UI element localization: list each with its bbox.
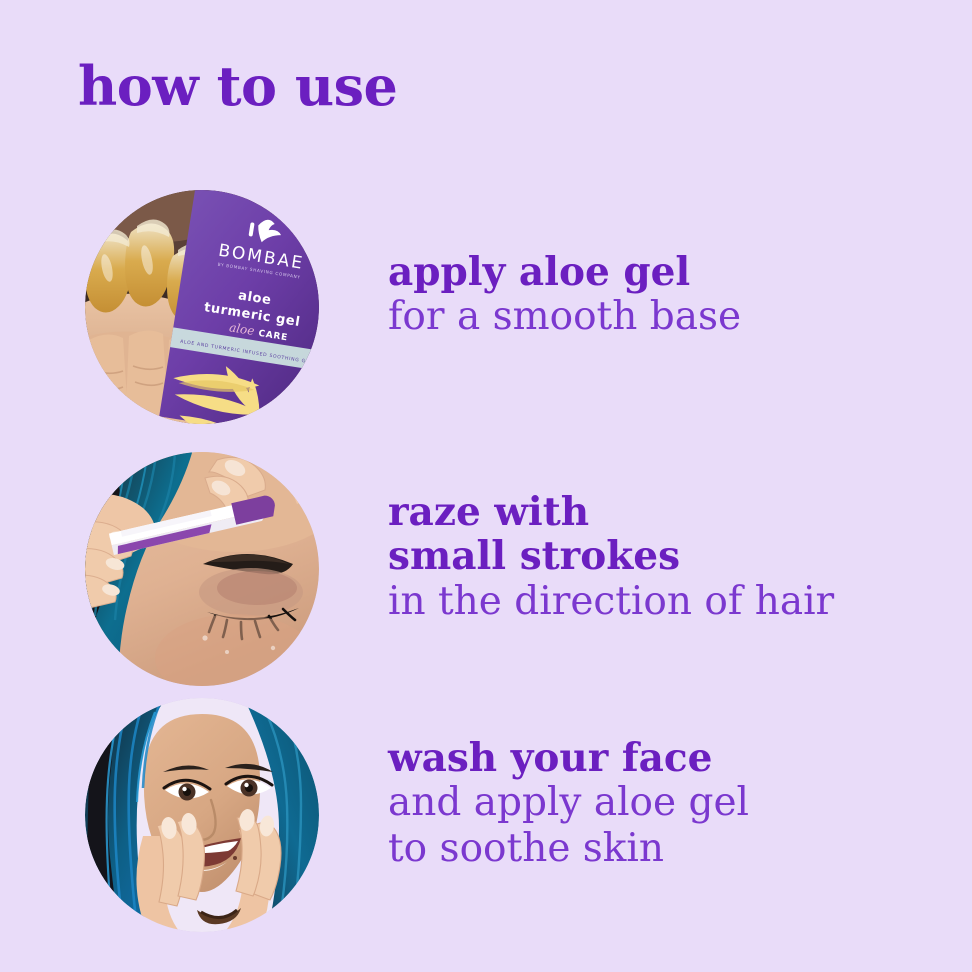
step-2-image <box>85 452 319 686</box>
step-1-image: BOMBAE BY BOMBAY SHAVING COMPANY aloe tu… <box>85 190 319 424</box>
step-2-copy: raze with small strokes in the direction… <box>388 490 948 625</box>
step-3-headline: wash your face <box>388 736 948 780</box>
step-3-image <box>85 698 319 932</box>
step-2-headline-line-2: small strokes <box>388 534 948 578</box>
step-3-body-line-2: to soothe skin <box>388 826 948 872</box>
page-title: how to use <box>78 58 397 115</box>
step-3-copy: wash your face and apply aloe gel to soo… <box>388 736 948 872</box>
step-3-body-line-1: and apply aloe gel <box>388 780 948 826</box>
how-to-use-poster: how to use <box>0 0 972 972</box>
step-1-headline: apply aloe gel <box>388 250 948 294</box>
step-2-body-line-1: in the direction of hair <box>388 579 948 625</box>
step-1-body-line-1: for a smooth base <box>388 294 948 340</box>
step-2-headline-line-1: raze with <box>388 490 948 534</box>
step-1-copy: apply aloe gel for a smooth base <box>388 250 948 340</box>
